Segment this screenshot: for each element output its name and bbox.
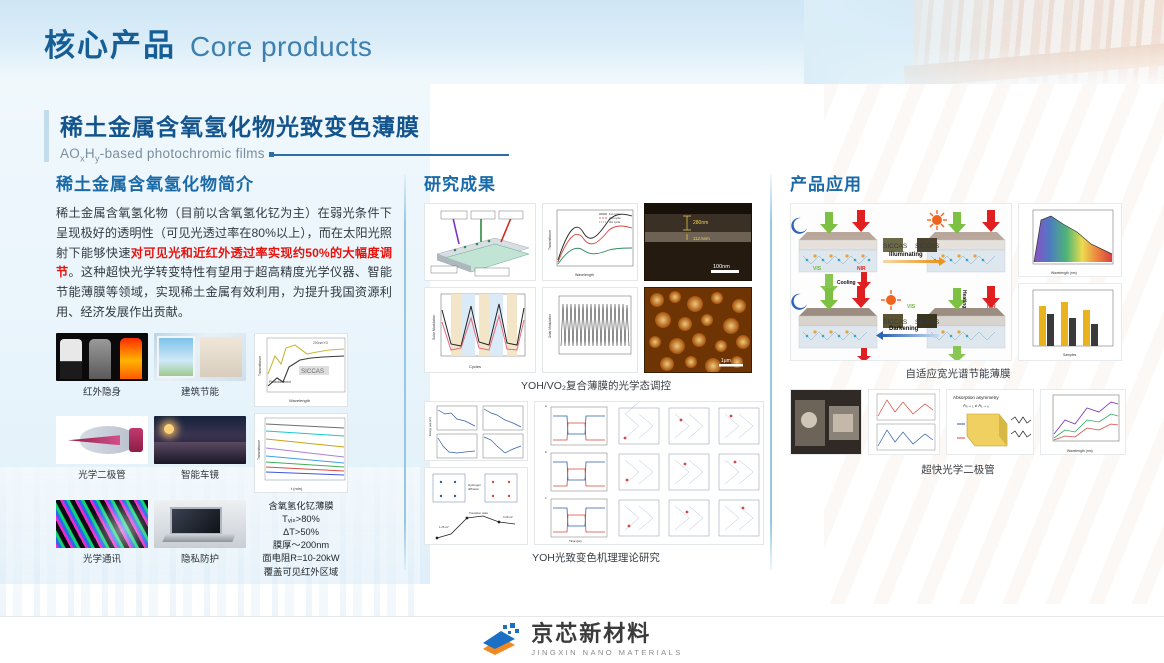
thumbnail-caption: 隐私防护 <box>154 551 246 565</box>
company-name: 京芯新材料 JINGXIN NANO MATERIALS <box>531 623 682 657</box>
spec-line: 面电阻R=10-20kW <box>254 552 348 565</box>
svg-text:Transmittance: Transmittance <box>258 355 262 375</box>
svg-text:Solar Modulation: Solar Modulation <box>432 314 436 340</box>
infrared-stealth-image <box>56 333 148 381</box>
svg-text:Energy gap (eV): Energy gap (eV) <box>428 417 432 436</box>
application-group-2: Absorption asymmetry A₀→₁ ≠ A₁→₀ <box>790 389 1126 477</box>
section-title-rule <box>273 154 509 156</box>
svg-text:Wavelength: Wavelength <box>575 273 594 277</box>
sem-cross-section-image: 280nm 112.5nm 100nm <box>644 203 752 281</box>
specification-panel: SICCAS 200nmYO Photodarkened Wavelength … <box>254 333 348 579</box>
transmittance-spectrum-chart: SICCAS 200nmYO Photodarkened Wavelength … <box>254 333 348 407</box>
thumbnail-item: 光学二极管 <box>56 416 148 495</box>
page-title: 核心产品 Core products <box>44 20 372 65</box>
svg-text:c: c <box>545 496 547 500</box>
svg-text:0.29 eV: 0.29 eV <box>503 515 513 519</box>
wavelength-response-plot: Wavelength (nm) <box>1040 389 1126 455</box>
thumbnail-caption: 光学二极管 <box>56 467 148 481</box>
svg-text:SICCAS: SICCAS <box>301 368 324 375</box>
transmittance-spectra-plot: 1st cycle 2nd cycle 3rd cycle Wavelength… <box>542 203 638 281</box>
absorption-asymmetry-plot <box>868 389 940 455</box>
svg-text:t (min): t (min) <box>291 486 303 491</box>
svg-text:Cycles: Cycles <box>469 364 481 369</box>
figure-row: Energy gap (eV) Hydrogen diffusion <box>424 401 768 545</box>
company-logo-icon <box>481 623 521 657</box>
energy-time-traces-plot: abc Time (ps) <box>534 401 764 545</box>
spec-line: 含氧氢化钇薄膜 <box>254 500 348 513</box>
svg-text:SICCAS: SICCAS <box>883 319 908 326</box>
film-structure-schematic <box>424 203 536 281</box>
spec-line: ΔT>50% <box>254 526 348 539</box>
section-title: 稀土金属含氧氢化物光致变色薄膜 AOxHy-based photochromic… <box>44 108 509 164</box>
spec-line: Tᵥᵢₛ>80% <box>254 513 348 526</box>
figure-row: Absorption asymmetry A₀→₁ ≠ A₁→₀ <box>790 389 1126 455</box>
svg-text:A₀→₁ ≠ A₁→₀: A₀→₁ ≠ A₁→₀ <box>963 403 989 408</box>
svg-text:diffusion: diffusion <box>468 487 479 491</box>
svg-text:Darkening: Darkening <box>889 326 919 332</box>
slide-root: 核心产品 Core products 稀土金属含氧氢化物光致变色薄膜 AOxHy… <box>0 0 1164 663</box>
svg-text:NIR: NIR <box>987 304 996 310</box>
privacy-protection-image <box>154 500 246 548</box>
research-figure-group-1: Cycles Solar Modulation 1st <box>424 203 768 393</box>
column-introduction: 稀土金属含氧氢化物简介 稀土金属含氧氢化物（目前以含氧氢化钇为主）在弱光条件下呈… <box>56 170 396 579</box>
svg-text:NIR: NIR <box>857 266 866 272</box>
svg-text:Samples: Samples <box>1063 353 1076 357</box>
hydrogen-diffusion-schematic: Hydrogen diffusion Transition state 0.29… <box>424 467 528 545</box>
middle-figure-caption-1: YOH/VO₂复合薄膜的光学态调控 <box>424 378 768 393</box>
modulation-cycles-plot: Cycles Solar Modulation <box>424 287 536 373</box>
svg-text:Wavelength (nm): Wavelength (nm) <box>1067 449 1093 453</box>
thickness-transmittance-chart: t (min) Transmittance <box>254 413 348 493</box>
left-column-heading: 稀土金属含氧氢化物简介 <box>56 170 396 195</box>
spec-line: 膜厚～200nm <box>254 539 348 552</box>
thumbnail-item: 红外隐身 <box>56 333 148 412</box>
right-figure-caption-1: 自适应宽光谱节能薄膜 <box>790 366 1126 381</box>
svg-text:Solar Modulation: Solar Modulation <box>548 314 552 338</box>
thumbnail-item: 光学通讯 <box>56 500 148 579</box>
optical-diode-image <box>56 416 148 464</box>
column-divider-left <box>404 175 406 570</box>
section-subtitle-row: AOxHy-based photochromic films <box>60 146 509 164</box>
middle-figure-caption-2: YOH光致变色机理理论研究 <box>424 550 768 565</box>
diode-structure-schematic: Absorption asymmetry A₀→₁ ≠ A₁→₀ <box>946 389 1034 455</box>
building-energy-saving-image <box>154 333 246 381</box>
svg-text:Wavelength (nm): Wavelength (nm) <box>1051 271 1077 275</box>
right-column-heading: 产品应用 <box>790 170 1126 195</box>
svg-text:SICCAS: SICCAS <box>915 319 940 326</box>
energy-gap-time-plots: Energy gap (eV) <box>424 401 528 461</box>
afm-surface-image: 1μm <box>644 287 752 373</box>
svg-text:Heating: Heating <box>961 290 967 308</box>
right-figure-caption-2: 超快光学二极管 <box>790 462 1126 477</box>
svg-text:100nm: 100nm <box>713 264 730 270</box>
column-product-application: 产品应用 <box>790 170 1126 477</box>
page-title-en: Core products <box>190 31 372 63</box>
svg-text:Wavelength: Wavelength <box>289 398 310 403</box>
middle-column-heading: 研究成果 <box>424 170 768 195</box>
thumbnail-item: 智能车镜 <box>154 416 246 495</box>
application-group-1: SICCAS SICCAS SICCAS SICCAS <box>790 203 1126 381</box>
svg-text:3rd cycle: 3rd cycle <box>609 220 621 224</box>
company-name-en: JINGXIN NANO MATERIALS <box>531 649 682 657</box>
optical-communication-image <box>56 500 148 548</box>
device-photo <box>790 389 862 455</box>
spec-line: 覆盖可见红外区域 <box>254 566 348 579</box>
svg-text:Transmittance: Transmittance <box>548 230 552 250</box>
svg-text:Cooling: Cooling <box>837 280 856 286</box>
header-gradient-fade <box>804 0 1164 84</box>
svg-text:VIS: VIS <box>907 304 916 310</box>
svg-text:200nmYO: 200nmYO <box>313 341 329 345</box>
svg-text:1.25 eV: 1.25 eV <box>439 525 449 529</box>
thumbnail-item: 建筑节能 <box>154 333 246 412</box>
svg-text:112.5nm: 112.5nm <box>693 236 710 241</box>
section-title-accent-bar <box>44 110 49 162</box>
svg-text:VIS: VIS <box>813 266 822 272</box>
svg-text:SICCAS: SICCAS <box>915 243 940 250</box>
column-research-results: 研究成果 <box>424 170 768 565</box>
thumbnail-caption: 建筑节能 <box>154 384 246 398</box>
svg-text:Transmittance: Transmittance <box>257 439 261 459</box>
thumbnail-caption: 智能车镜 <box>154 467 246 481</box>
svg-text:SICCAS: SICCAS <box>883 243 908 250</box>
svg-text:Transition state: Transition state <box>469 511 488 515</box>
section-title-en: AOxHy-based photochromic films <box>60 146 265 164</box>
thumbnail-caption: 光学通讯 <box>56 551 148 565</box>
svg-text:280nm: 280nm <box>693 220 708 226</box>
svg-text:b: b <box>545 450 547 454</box>
svg-text:Illuminating: Illuminating <box>889 252 923 258</box>
energy-saving-bar-chart: Samples <box>1018 283 1122 361</box>
column-divider-right <box>770 175 772 570</box>
specification-text: 含氧氢化钇薄膜 Tᵥᵢₛ>80% ΔT>50% 膜厚～200nm 面电阻R=10… <box>254 500 348 579</box>
svg-text:Photodarkened: Photodarkened <box>269 380 291 384</box>
thumbnail-item: 隐私防护 <box>154 500 246 579</box>
footer-logo: 京芯新材料 JINGXIN NANO MATERIALS <box>0 617 1164 663</box>
figure-row: Cycles Solar Modulation 1st <box>424 203 768 373</box>
thumbnail-caption: 红外隐身 <box>56 384 148 398</box>
research-figure-group-2: Energy gap (eV) Hydrogen diffusion <box>424 401 768 565</box>
introduction-paragraph: 稀土金属含氧氢化物（目前以含氧氢化钇为主）在弱光条件下呈现极好的透明性（可见光透… <box>56 204 392 323</box>
adaptive-film-cycle-diagram: SICCAS SICCAS SICCAS SICCAS <box>790 203 1012 361</box>
svg-text:Absorption asymmetry: Absorption asymmetry <box>953 395 999 400</box>
svg-text:1μm: 1μm <box>721 358 731 364</box>
solar-spectrum-plot: Wavelength (nm) <box>1018 203 1122 277</box>
company-name-cn: 京芯新材料 <box>531 623 682 645</box>
svg-text:Time (ps): Time (ps) <box>569 539 582 543</box>
figure-row: SICCAS SICCAS SICCAS SICCAS <box>790 203 1126 361</box>
slide-header: 核心产品 Core products <box>0 0 1164 84</box>
intro-text-part2: 。这种超快光学转变特性有望用于超高精度光学仪器、智能节能薄膜等领域，实现稀土金属… <box>56 265 392 319</box>
long-cycle-stability-plot: Solar Modulation <box>542 287 638 373</box>
left-lower-region: 红外隐身 建筑节能 光学二极管 智能车镜 光学通讯 <box>56 333 396 579</box>
page-title-cn: 核心产品 <box>44 20 176 65</box>
section-title-cn: 稀土金属含氧氢化物光致变色薄膜 <box>60 108 509 142</box>
application-thumbnail-grid: 红外隐身 建筑节能 光学二极管 智能车镜 光学通讯 <box>56 333 246 579</box>
smart-car-mirror-image <box>154 416 246 464</box>
svg-text:a: a <box>545 404 547 408</box>
